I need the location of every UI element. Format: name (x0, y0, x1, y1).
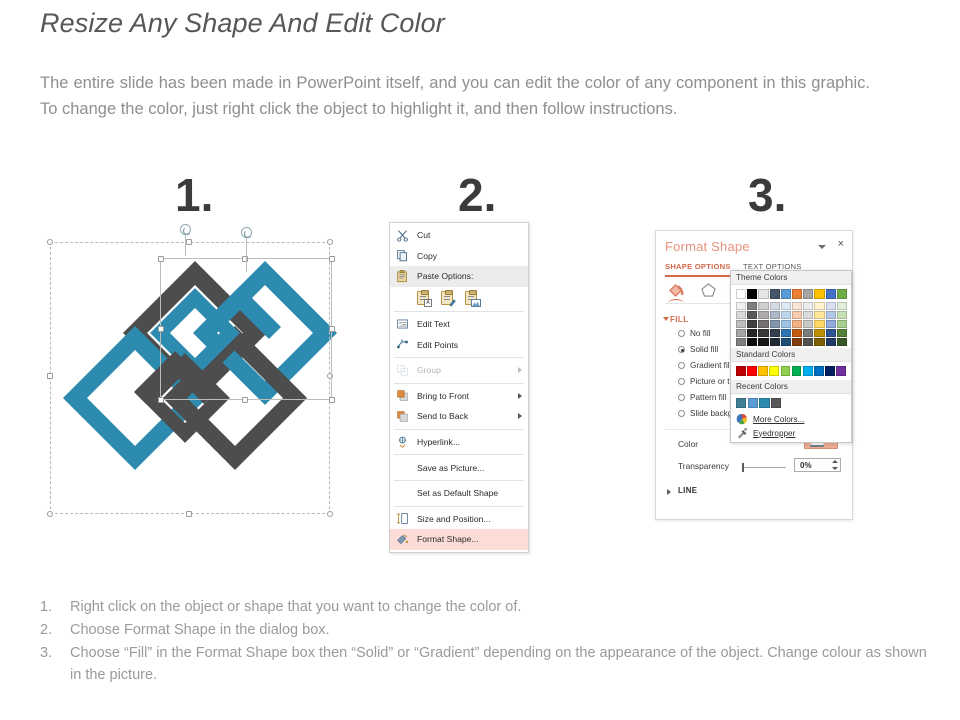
transparency-label: Transparency (678, 461, 729, 471)
line-section-heading: LINE (678, 486, 697, 495)
bring-front-icon (394, 388, 411, 403)
tab-active-underline (665, 275, 735, 277)
context-menu-item-format-shape[interactable]: Format Shape... (390, 529, 528, 550)
standard-color-swatch[interactable] (792, 366, 802, 376)
theme-color-variant-swatch[interactable] (792, 320, 802, 328)
stepper-down-icon[interactable] (832, 467, 838, 470)
standard-colors-heading: Standard Colors (731, 348, 851, 362)
theme-color-variant-swatch[interactable] (736, 302, 746, 310)
theme-colors-grid[interactable] (731, 285, 851, 348)
format-shape-title: Format Shape (665, 239, 750, 254)
theme-color-variant-swatch[interactable] (803, 311, 813, 319)
list-text: Choose Format Shape in the dialog box. (70, 619, 940, 641)
theme-color-swatch[interactable] (814, 289, 824, 299)
theme-color-variant-swatch[interactable] (826, 338, 836, 346)
theme-color-variant-swatch[interactable] (837, 338, 847, 346)
shape-canvas[interactable] (40, 228, 340, 528)
paste-picture-icon[interactable] (440, 289, 455, 306)
theme-color-swatch[interactable] (792, 289, 802, 299)
context-menu-label: Edit Points (411, 340, 458, 350)
theme-color-swatch[interactable] (803, 289, 813, 299)
rotate-handle-icon-inner[interactable] (241, 227, 252, 238)
chevron-down-icon[interactable] (818, 245, 826, 249)
submenu-arrow-icon (518, 367, 522, 373)
handle-top-left[interactable] (47, 239, 53, 245)
color-label: Color (678, 439, 698, 449)
context-menu-label: Size and Position... (411, 514, 491, 524)
standard-color-swatch[interactable] (825, 366, 835, 376)
theme-color-variant-swatch[interactable] (792, 302, 802, 310)
standard-color-swatch[interactable] (814, 366, 824, 376)
hyperlink-icon (394, 435, 411, 450)
context-menu-item-group[interactable]: Group (390, 360, 528, 381)
radio-solid-fill[interactable]: Solid fill (678, 345, 718, 354)
format-shape-icon (394, 532, 411, 547)
theme-color-variant-swatch[interactable] (814, 329, 824, 337)
radio-label: Gradient fill (690, 361, 731, 370)
selection-inner-box (160, 258, 332, 400)
context-menu-item-bring-to-front[interactable]: Bring to Front (390, 386, 528, 407)
theme-color-variant-swatch[interactable] (770, 311, 780, 319)
theme-color-variant-swatch[interactable] (770, 302, 780, 310)
context-menu-item-cut[interactable]: Cut (390, 225, 528, 246)
radio-gradient-fill[interactable]: Gradient fill (678, 361, 731, 370)
tab-shape-options[interactable]: SHAPE OPTIONS (665, 262, 731, 271)
menu-divider-3 (394, 383, 524, 384)
theme-colors-heading: Theme Colors (731, 271, 851, 285)
copy-icon (394, 248, 411, 263)
fill-bucket-icon[interactable] (668, 282, 685, 298)
handle-bottom-center[interactable] (186, 511, 192, 517)
theme-color-variant-swatch[interactable] (747, 302, 757, 310)
theme-color-variant-swatch[interactable] (826, 302, 836, 310)
theme-color-variant-swatch[interactable] (736, 320, 746, 328)
theme-color-variant-swatch[interactable] (758, 329, 768, 337)
page-title: Resize Any Shape And Edit Color (40, 8, 445, 39)
recent-color-swatch[interactable] (771, 398, 781, 408)
color-picker-dropdown[interactable]: Theme Colors Standard Colors Recent Colo… (730, 270, 852, 443)
context-menu-label: Format Shape... (411, 534, 479, 544)
theme-color-variant-swatch[interactable] (770, 320, 780, 328)
theme-color-variant-swatch[interactable] (781, 338, 791, 346)
context-menu[interactable]: Cut Copy Paste Options: A (389, 222, 529, 553)
recent-colors-grid[interactable] (731, 394, 851, 412)
page-subtitle: The entire slide has been made in PowerP… (40, 70, 870, 122)
theme-color-variant-swatch[interactable] (747, 320, 757, 328)
recent-color-swatch[interactable] (748, 398, 758, 408)
theme-color-variant-swatch[interactable] (747, 311, 757, 319)
theme-color-variant-swatch[interactable] (814, 302, 824, 310)
paste-keep-source-formatting-icon[interactable]: A (416, 289, 431, 306)
no-icon-placeholder (394, 486, 411, 501)
menu-divider-2 (394, 357, 524, 358)
context-menu-label: Bring to Front (411, 391, 469, 401)
stepper-up-icon[interactable] (832, 460, 838, 463)
theme-color-variant-swatch[interactable] (781, 302, 791, 310)
inner-handle-bottom-left[interactable] (158, 397, 164, 403)
recent-colors-heading: Recent Colors (731, 380, 851, 394)
recent-color-swatch[interactable] (736, 398, 746, 408)
theme-color-swatch[interactable] (758, 289, 768, 299)
list-text: Right click on the object or shape that … (70, 596, 940, 618)
standard-color-swatch[interactable] (781, 366, 791, 376)
menu-divider-6 (394, 480, 524, 481)
submenu-arrow-icon (518, 413, 522, 419)
standard-color-swatch[interactable] (769, 366, 779, 376)
recent-color-swatch[interactable] (759, 398, 769, 408)
theme-color-variant-swatch[interactable] (781, 320, 791, 328)
theme-color-variant-swatch[interactable] (758, 320, 768, 328)
theme-color-variant-swatch[interactable] (758, 311, 768, 319)
context-menu-label: Hyperlink... (411, 437, 460, 447)
edit-text-icon (394, 317, 411, 332)
eyedropper-icon (736, 427, 748, 439)
inner-handle-middle-left[interactable] (158, 326, 164, 332)
rotate-handle-icon-outer[interactable] (180, 224, 191, 235)
inner-handle-bottom-center[interactable] (242, 397, 248, 403)
context-menu-item-save-as-picture[interactable]: Save as Picture... (390, 457, 528, 478)
menu-divider-4 (394, 429, 524, 430)
radio-label: Solid fill (690, 345, 718, 354)
transparency-stepper[interactable]: 0% (794, 458, 841, 472)
context-menu-item-send-to-back[interactable]: Send to Back (390, 406, 528, 427)
context-menu-label: Group (411, 365, 441, 375)
theme-color-variant-swatch[interactable] (826, 311, 836, 319)
theme-color-variant-swatch[interactable] (747, 329, 757, 337)
more-colors-label: More Colors... (753, 415, 804, 424)
context-menu-label: Paste Options: (411, 271, 473, 281)
context-menu-label: Copy (411, 251, 437, 261)
send-back-icon (394, 409, 411, 424)
radio-indicator[interactable] (678, 346, 685, 353)
theme-color-variant-swatch[interactable] (792, 329, 802, 337)
theme-color-variant-swatch[interactable] (814, 320, 824, 328)
theme-color-variant-swatch[interactable] (837, 302, 847, 310)
standard-colors-grid[interactable] (731, 362, 851, 380)
radio-label: Pattern fill (690, 393, 726, 402)
theme-color-variant-swatch[interactable] (747, 338, 757, 346)
group-icon (394, 363, 411, 378)
context-menu-item-edit-text[interactable]: Edit Text (390, 314, 528, 335)
image-overlay-icon (471, 299, 481, 307)
theme-color-variant-swatch[interactable] (826, 329, 836, 337)
theme-color-swatch[interactable] (837, 289, 847, 299)
standard-color-swatch[interactable] (836, 366, 846, 376)
handle-bottom-left[interactable] (47, 511, 53, 517)
inner-handle-top-left[interactable] (158, 256, 164, 262)
inner-handle-top-center[interactable] (242, 256, 248, 262)
paste-badge-a: A (424, 299, 432, 307)
instructions-list: 1. Right click on the object or shape th… (40, 596, 940, 687)
eyedropper-item[interactable]: Eyedropper (731, 426, 851, 440)
pentagon-effects-icon[interactable] (700, 282, 717, 298)
eyedropper-label: Eyedropper (753, 429, 795, 438)
theme-color-swatch[interactable] (770, 289, 780, 299)
no-icon-placeholder (394, 460, 411, 475)
context-menu-item-edit-points[interactable]: Edit Points (390, 334, 528, 355)
radio-indicator[interactable] (678, 378, 685, 385)
close-icon[interactable]: × (838, 239, 844, 250)
inner-handle-bottom-right[interactable] (329, 397, 335, 403)
theme-color-variant-swatch[interactable] (781, 329, 791, 337)
theme-color-variant-swatch[interactable] (803, 329, 813, 337)
list-marker: 2. (40, 619, 70, 641)
menu-divider-5 (394, 454, 524, 455)
theme-color-variant-swatch[interactable] (792, 311, 802, 319)
size-position-icon (394, 511, 411, 526)
paste-as-image-icon[interactable] (464, 289, 479, 306)
menu-divider-1 (394, 311, 524, 312)
inner-handle-top-right[interactable] (329, 256, 335, 262)
standard-color-swatch[interactable] (803, 366, 813, 376)
theme-color-variant-swatch[interactable] (837, 320, 847, 328)
theme-color-variant-swatch[interactable] (803, 338, 813, 346)
handle-bottom-right[interactable] (327, 511, 333, 517)
theme-color-variant-swatch[interactable] (837, 329, 847, 337)
list-item: 3. Choose “Fill” in the Format Shape box… (40, 642, 940, 686)
theme-color-variant-swatch[interactable] (736, 329, 746, 337)
radio-indicator[interactable] (678, 410, 685, 417)
theme-color-swatch[interactable] (736, 289, 746, 299)
context-menu-label: Cut (411, 230, 430, 240)
context-menu-label: Save as Picture... (411, 463, 484, 473)
step-number-3: 3. (748, 172, 786, 218)
edit-points-icon (394, 337, 411, 352)
theme-color-variant-swatch[interactable] (736, 338, 746, 346)
radio-pattern-fill[interactable]: Pattern fill (678, 393, 726, 402)
step-number-1: 1. (175, 172, 213, 218)
more-colors-item[interactable]: More Colors... (731, 412, 851, 426)
rotation-stem-inner (246, 236, 247, 272)
list-marker: 3. (40, 642, 70, 686)
radio-indicator[interactable] (678, 394, 685, 401)
step-number-2: 2. (458, 172, 496, 218)
stepper-arrows[interactable] (830, 460, 839, 470)
theme-color-variant-swatch[interactable] (770, 338, 780, 346)
rotation-stem-outer (185, 234, 186, 256)
theme-color-swatch[interactable] (826, 289, 836, 299)
theme-color-variant-swatch[interactable] (781, 311, 791, 319)
slider-thumb[interactable] (742, 463, 744, 472)
submenu-arrow-icon (518, 393, 522, 399)
theme-color-variant-swatch[interactable] (758, 302, 768, 310)
handle-top-right[interactable] (327, 239, 333, 245)
context-menu-label: Send to Back (411, 411, 468, 421)
fill-collapse-triangle-icon[interactable] (663, 317, 669, 321)
transparency-value: 0% (800, 461, 812, 470)
context-menu-label: Set as Default Shape (411, 488, 498, 498)
theme-color-swatch[interactable] (747, 289, 757, 299)
theme-color-swatch[interactable] (781, 289, 791, 299)
context-menu-item-paste-options[interactable]: Paste Options: (390, 266, 528, 287)
handle-top-center[interactable] (186, 239, 192, 245)
radio-indicator[interactable] (678, 330, 685, 337)
context-menu-item-size-and-position[interactable]: Size and Position... (390, 509, 528, 530)
theme-color-variant-swatch[interactable] (814, 338, 824, 346)
theme-color-variant-swatch[interactable] (758, 338, 768, 346)
radio-no-fill[interactable]: No fill (678, 329, 710, 338)
brush-overlay-icon (448, 297, 457, 306)
scissors-icon (394, 228, 411, 243)
line-expand-triangle-icon[interactable] (667, 489, 671, 495)
theme-color-variant-swatch[interactable] (770, 329, 780, 337)
list-text: Choose “Fill” in the Format Shape box th… (70, 642, 940, 686)
radio-indicator[interactable] (678, 362, 685, 369)
paste-options-icon-row[interactable]: A (390, 287, 528, 309)
standard-color-swatch[interactable] (747, 366, 757, 376)
theme-color-variant-swatch[interactable] (837, 311, 847, 319)
standard-color-swatch[interactable] (758, 366, 768, 376)
theme-color-variant-swatch[interactable] (736, 311, 746, 319)
list-item: 1. Right click on the object or shape th… (40, 596, 940, 618)
handle-middle-left[interactable] (47, 373, 53, 379)
transparency-slider[interactable] (744, 467, 786, 468)
list-marker: 1. (40, 596, 70, 618)
menu-divider-7 (394, 506, 524, 507)
fill-section-heading: FILL (670, 315, 688, 324)
standard-color-swatch[interactable] (736, 366, 746, 376)
context-menu-item-hyperlink[interactable]: Hyperlink... (390, 432, 528, 453)
theme-color-variant-swatch[interactable] (814, 311, 824, 319)
context-menu-label: Edit Text (411, 319, 450, 329)
inner-handle-middle-right[interactable] (329, 326, 335, 332)
theme-color-variant-swatch[interactable] (826, 320, 836, 328)
theme-color-variant-swatch[interactable] (803, 320, 813, 328)
theme-color-variant-swatch[interactable] (803, 302, 813, 310)
context-menu-item-set-default-shape[interactable]: Set as Default Shape (390, 483, 528, 504)
color-wheel-icon (736, 413, 748, 425)
list-item: 2. Choose Format Shape in the dialog box… (40, 619, 940, 641)
context-menu-item-copy[interactable]: Copy (390, 246, 528, 267)
paste-icon (394, 269, 411, 284)
radio-label: No fill (690, 329, 710, 338)
theme-color-variant-swatch[interactable] (792, 338, 802, 346)
